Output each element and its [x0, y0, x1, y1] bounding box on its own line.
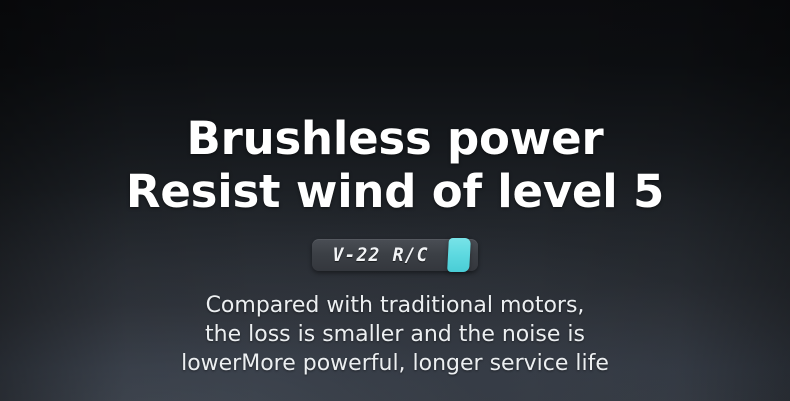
subcopy-line-1: Compared with traditional motors,	[181, 291, 609, 320]
model-badge-label: V-22 R/C	[333, 246, 429, 265]
banner-content: Brushless power Resist wind of level 5 V…	[0, 0, 790, 401]
product-promo-banner: Brushless power Resist wind of level 5 V…	[0, 0, 790, 401]
headline-block: Brushless power Resist wind of level 5	[126, 112, 664, 218]
subcopy-block: Compared with traditional motors, the lo…	[181, 291, 609, 378]
subcopy-line-2: the loss is smaller and the noise is	[181, 320, 609, 349]
headline-line-1: Brushless power	[126, 112, 664, 165]
model-badge: V-22 R/C	[312, 239, 477, 271]
subcopy-line-3: lowerMore powerful, longer service life	[181, 349, 609, 378]
badge-accent-block	[447, 238, 471, 272]
headline-line-2: Resist wind of level 5	[126, 165, 664, 218]
badge-row: V-22 R/C	[0, 239, 790, 271]
